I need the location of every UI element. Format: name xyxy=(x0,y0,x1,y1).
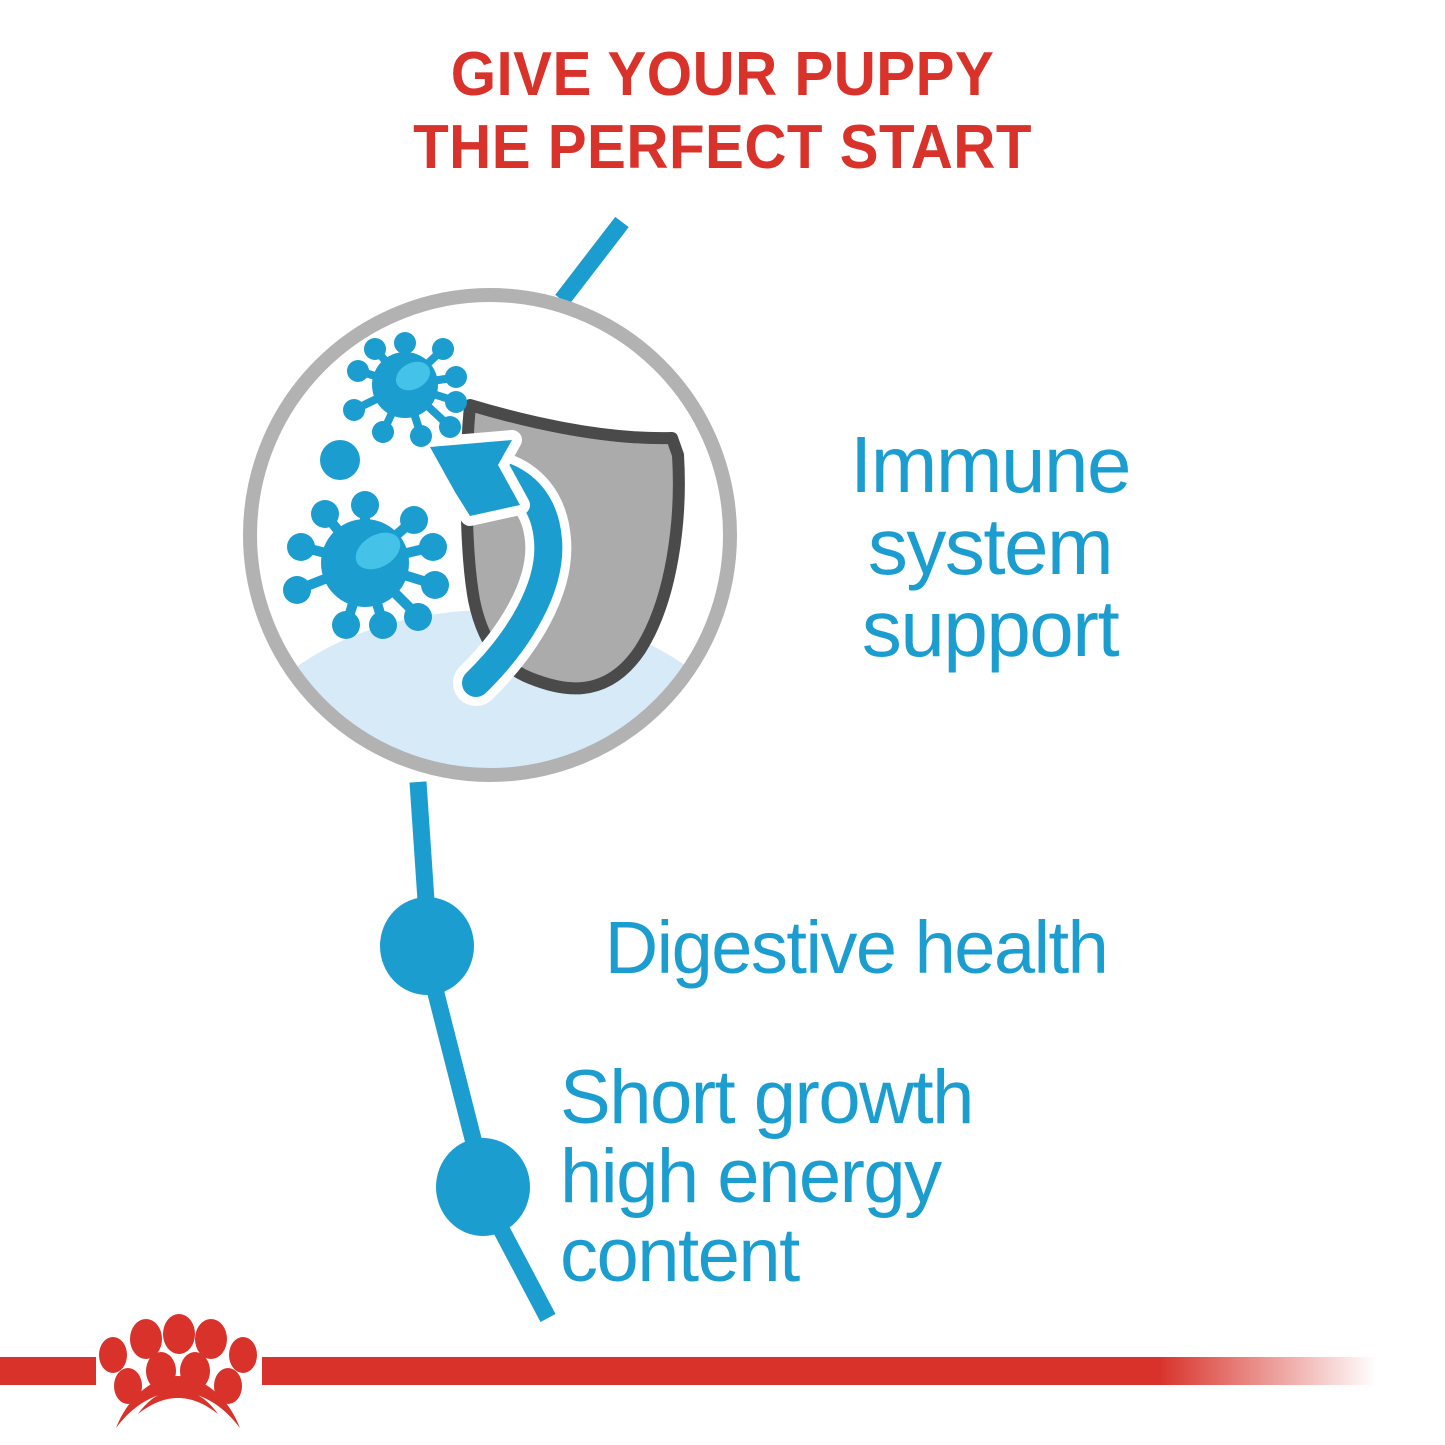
protection-arrow-icon xyxy=(430,440,548,683)
connector-dot-2 xyxy=(436,1138,530,1236)
shield-body xyxy=(467,405,679,688)
poster-canvas: GIVE YOUR PUPPY THE PERFECT START xyxy=(0,0,1445,1445)
connector-dot-1 xyxy=(380,897,474,995)
brand-bar-left xyxy=(0,1357,96,1385)
arrow-tail-halo xyxy=(476,474,548,683)
crown-arc-inner xyxy=(138,1390,218,1414)
shield-icon xyxy=(467,405,679,688)
connector-segment-2 xyxy=(428,962,486,1190)
arrow-head-halo xyxy=(430,440,520,516)
virus-icon-small xyxy=(343,332,467,447)
ring-circle-icon xyxy=(250,295,730,775)
virus-body-large xyxy=(321,519,409,607)
connector-segment-3 xyxy=(492,1212,548,1318)
benefit-label-immune: Immune system support xyxy=(770,424,1210,670)
icon-disc-background xyxy=(250,295,730,775)
benefit-label-growth: Short growth high energy content xyxy=(560,1058,1160,1295)
virus-body-small xyxy=(372,352,438,418)
connector-segment-top xyxy=(562,222,622,300)
virus-highlight-small xyxy=(391,356,435,396)
arrow-head xyxy=(430,440,520,516)
brand-bar-right xyxy=(262,1357,1382,1385)
virus-highlight-large xyxy=(349,525,407,577)
page-title: GIVE YOUR PUPPY THE PERFECT START xyxy=(43,38,1401,184)
connector-segment-1 xyxy=(418,782,428,930)
crown-arc-outer xyxy=(116,1376,240,1428)
arrow-tail xyxy=(476,474,548,683)
virus-dot-icon xyxy=(320,440,360,480)
royal-canin-crown-icon xyxy=(99,1314,257,1428)
virus-icon-large xyxy=(283,491,449,639)
benefit-label-digestive: Digestive health xyxy=(500,908,1212,988)
